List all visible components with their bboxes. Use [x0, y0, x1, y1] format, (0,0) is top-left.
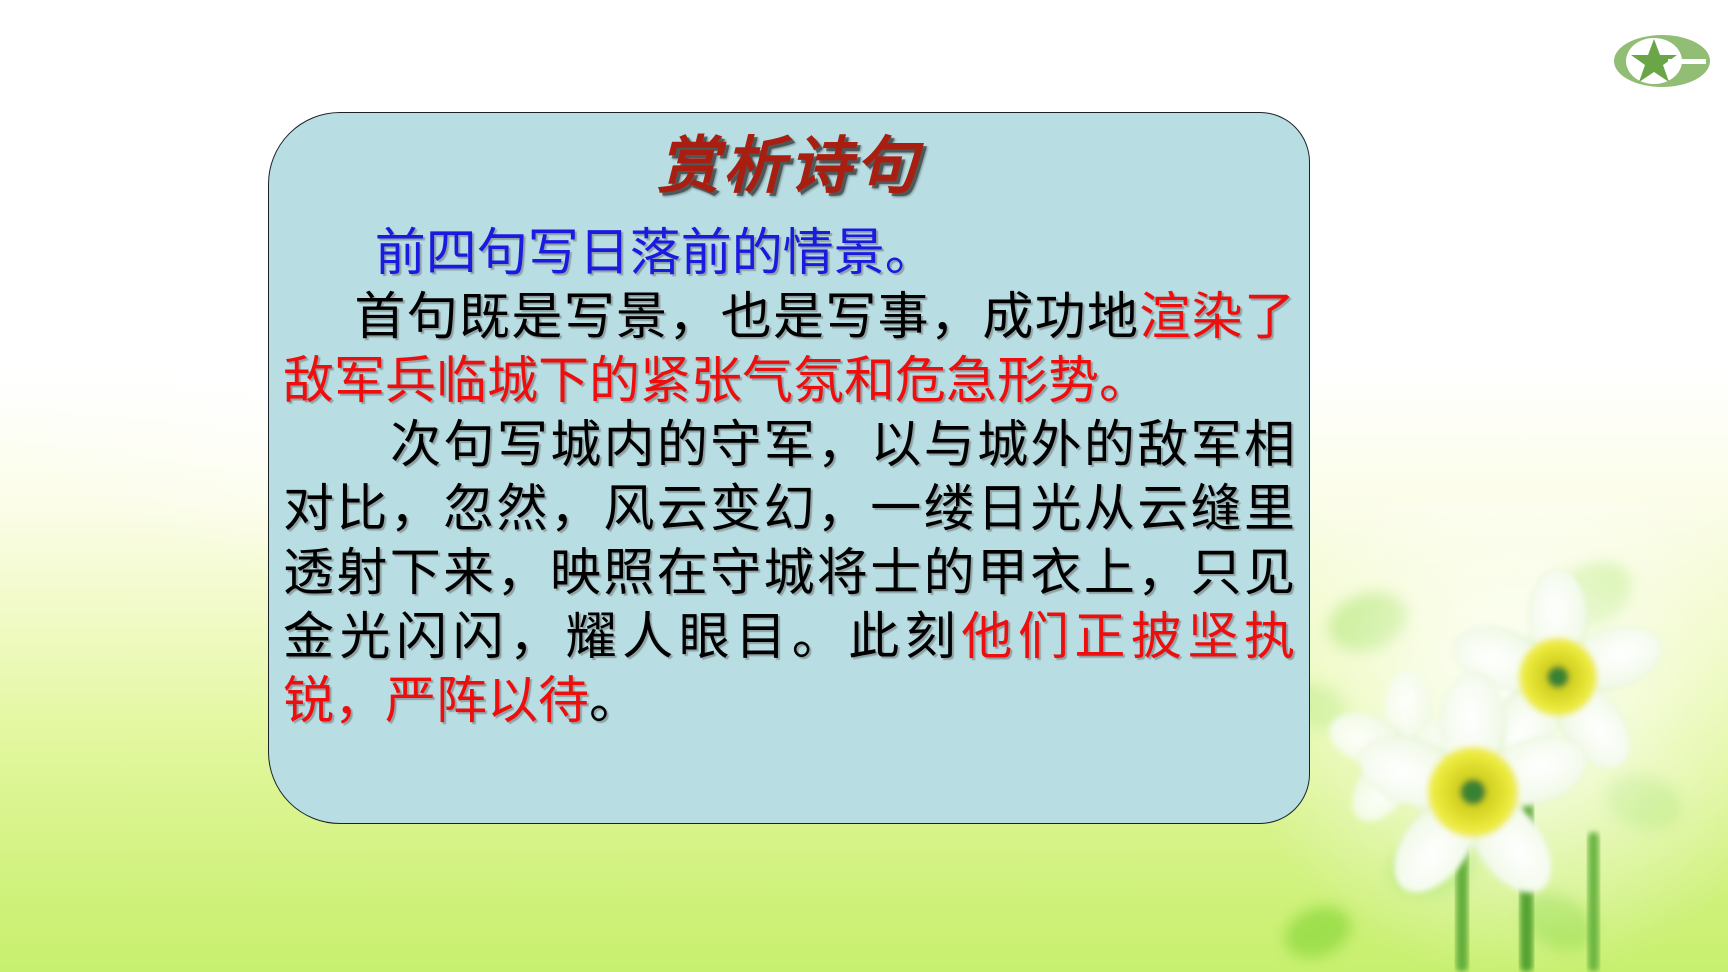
- intro-text: 前四句写日落前的情景。: [375, 226, 936, 282]
- paragraph-intro: 前四句写日落前的情景。: [283, 222, 1295, 286]
- paragraph-second-sentence: 次句写城内的守军，以与城外的敌军相对比，忽然，风云变幻，一缕日光从云缝里透射下来…: [283, 414, 1295, 734]
- first-sentence-black: 首句既是写景，也是写事，成功地: [354, 290, 1139, 346]
- content-box: 赏析诗句 前四句写日落前的情景。 首句既是写景，也是写事，成功地渲染了敌军兵临城…: [268, 112, 1310, 824]
- green-oval-star-logo-icon: [1612, 33, 1712, 89]
- second-sentence-tail: 。: [589, 674, 640, 730]
- slide-title: 赏析诗句: [269, 135, 1309, 200]
- body-text: 前四句写日落前的情景。 首句既是写景，也是写事，成功地渲染了敌军兵临城下的紧张气…: [283, 222, 1295, 734]
- paragraph-first-sentence: 首句既是写景，也是写事，成功地渲染了敌军兵临城下的紧张气氛和危急形势。: [283, 286, 1295, 414]
